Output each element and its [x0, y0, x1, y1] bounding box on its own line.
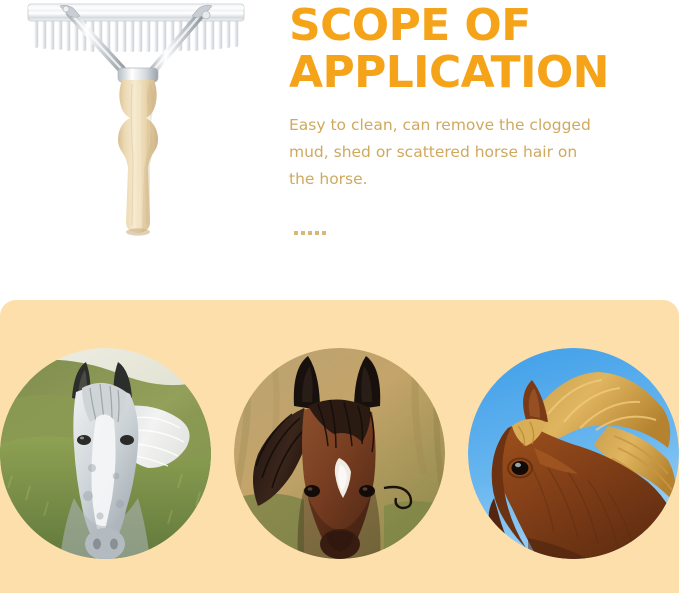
dot	[315, 231, 319, 235]
gallery-row	[0, 348, 679, 559]
top-section: SCOPE OF APPLICATION Easy to clean, can …	[0, 0, 679, 300]
horse-photo-3	[468, 348, 679, 559]
product-photo	[0, 0, 278, 250]
dot	[301, 231, 305, 235]
page-title: SCOPE OF APPLICATION	[289, 0, 669, 96]
comb-teeth	[34, 18, 238, 52]
text-column: SCOPE OF APPLICATION Easy to clean, can …	[289, 0, 669, 260]
decorative-dots	[294, 231, 326, 235]
page-title-line-1: SCOPE OF	[289, 2, 669, 49]
wooden-handle	[118, 80, 158, 236]
gallery-panel	[0, 300, 679, 593]
chestnut-horse-image	[468, 348, 679, 559]
dot	[322, 231, 326, 235]
horse-photo-1	[0, 348, 211, 559]
grey-horse-image	[0, 348, 211, 559]
horse-photo-2	[234, 348, 445, 559]
dot	[308, 231, 312, 235]
grooming-rake-illustration	[0, 0, 278, 250]
dot	[294, 231, 298, 235]
ferrule	[118, 68, 158, 82]
bay-horse-image	[234, 348, 445, 559]
page-title-line-2: APPLICATION	[289, 49, 669, 96]
description-text: Easy to clean, can remove the clogged mu…	[289, 96, 604, 193]
